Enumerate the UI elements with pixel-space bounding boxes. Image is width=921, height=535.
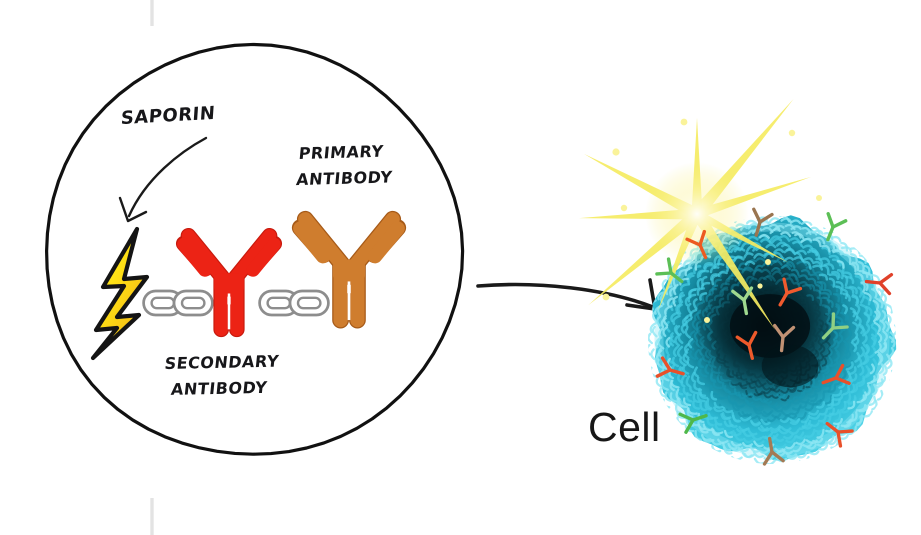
burst-dot-4 xyxy=(816,195,822,201)
burst-dot-8 xyxy=(757,283,762,288)
burst-dot-6 xyxy=(765,259,771,265)
cell-fiber xyxy=(894,325,897,335)
chain-ring-inner xyxy=(298,298,320,308)
cell-fiber xyxy=(851,248,859,253)
label-cell: Cell xyxy=(588,404,661,451)
marker-stem xyxy=(782,337,783,351)
burst-dot-0 xyxy=(681,119,688,126)
cell-fiber xyxy=(747,221,756,224)
label-primary-line1: Primary xyxy=(298,137,385,165)
label-primary-line2: Antibody xyxy=(295,162,394,191)
burst-dot-2 xyxy=(612,148,619,155)
chain-ring-inner xyxy=(268,298,290,308)
cell-fiber xyxy=(648,334,651,343)
burst-dot-3 xyxy=(621,205,627,211)
antibody-hinge xyxy=(214,273,244,293)
marker-stem xyxy=(770,439,772,452)
cell-fiber xyxy=(732,457,742,460)
label-secondary-antibody: SecondaryAntibody xyxy=(161,348,281,402)
antibody-hinge xyxy=(333,260,365,282)
label-primary-antibody: PrimaryAntibody xyxy=(295,137,396,191)
diagram-canvas: Saporin PrimaryAntibody SecondaryAntibod… xyxy=(0,0,921,535)
cell-fiber xyxy=(888,315,891,324)
flow-arrow xyxy=(478,280,655,309)
burst-dot-1 xyxy=(789,130,795,136)
cell-nucleus-lobe xyxy=(762,345,819,387)
marker-stem xyxy=(866,282,880,283)
burst-dot-7 xyxy=(704,317,710,323)
marker-stem xyxy=(744,300,746,313)
marker-arm-right xyxy=(833,217,846,230)
cell-fiber xyxy=(886,304,892,312)
chain-ring xyxy=(174,291,212,315)
illustration-layer xyxy=(0,0,921,535)
chain-ring-inner xyxy=(152,298,174,308)
burst-dot-5 xyxy=(603,294,610,301)
burst-core-glow xyxy=(645,162,749,266)
chain-link-right xyxy=(260,291,329,315)
label-secondary-line1: Secondary xyxy=(163,347,280,375)
cell-fiber xyxy=(651,368,656,377)
label-saporin: Saporin xyxy=(120,97,216,132)
cell-fiber xyxy=(755,459,764,464)
cell-fiber xyxy=(647,345,650,354)
chain-ring xyxy=(290,291,328,315)
label-secondary-line2: Antibody xyxy=(170,373,269,401)
chain-link-left xyxy=(144,291,213,315)
cell-fiber xyxy=(651,350,654,359)
chain-ring-inner xyxy=(182,298,204,308)
cell-fiber xyxy=(878,391,882,400)
cell-fiber xyxy=(890,371,893,380)
